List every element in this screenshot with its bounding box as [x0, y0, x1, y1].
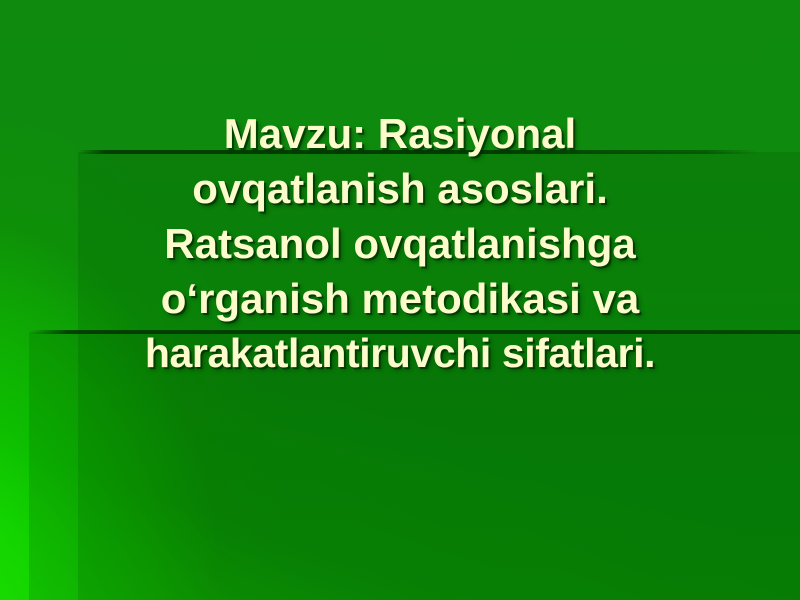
title-line-3: Ratsanol ovqatlanishga — [6, 216, 794, 271]
presentation-slide: Mavzu: Rasiyonal ovqatlanish asoslari. R… — [0, 0, 800, 600]
title-line-2: ovqatlanish asoslari. — [6, 161, 794, 216]
title-line-4: o‘rganish metodikasi va — [6, 271, 794, 326]
slide-title: Mavzu: Rasiyonal ovqatlanish asoslari. R… — [0, 106, 800, 381]
title-line-1: Mavzu: Rasiyonal — [6, 106, 794, 161]
title-line-5: harakatlantiruvchi sifatlari. — [6, 326, 794, 381]
